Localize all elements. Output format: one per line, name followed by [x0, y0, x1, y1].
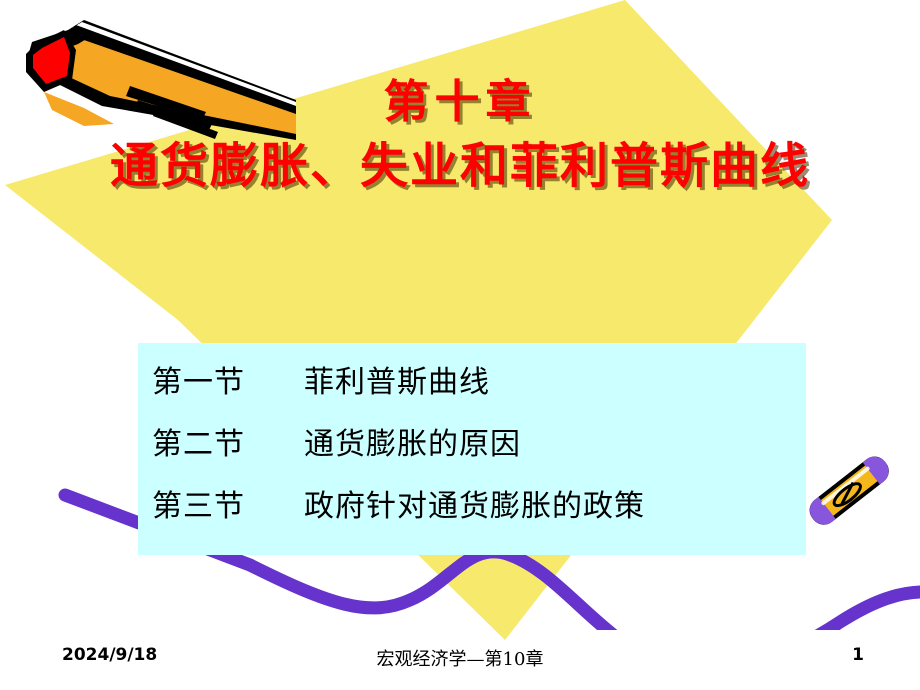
list-item[interactable]: 第二节 通货膨胀的原因 [152, 419, 806, 481]
toc-item-number: 第二节 [152, 419, 304, 463]
list-item[interactable]: 第一节 菲利普斯曲线 [152, 357, 806, 419]
pencil-icon [795, 440, 905, 540]
toc-list: 第一节 菲利普斯曲线 第二节 通货膨胀的原因 第三节 政府针对通货膨胀的政策 [152, 357, 806, 543]
chapter-subtitle: 通货膨胀、失业和菲利普斯曲线 [0, 141, 920, 191]
toc-item-label: 通货膨胀的原因 [304, 419, 521, 463]
toc-item-number: 第一节 [152, 357, 304, 401]
slide-title-block: 第十章 通货膨胀、失业和菲利普斯曲线 [0, 78, 920, 192]
list-item[interactable]: 第三节 政府针对通货膨胀的政策 [152, 481, 806, 543]
slide-canvas: 第十章 通货膨胀、失业和菲利普斯曲线 第一节 菲利普斯曲线 第二节 通货膨胀的原… [0, 0, 920, 690]
slide-footer: 2024/9/18 宏观经济学—第10章 1 [0, 628, 920, 690]
toc-panel: 第一节 菲利普斯曲线 第二节 通货膨胀的原因 第三节 政府针对通货膨胀的政策 [138, 343, 806, 555]
page-number: 1 [852, 645, 864, 665]
chapter-title: 第十章 [0, 78, 920, 125]
toc-item-number: 第三节 [152, 481, 304, 525]
footer-subject: 宏观经济学—第10章 [0, 645, 920, 671]
toc-item-label: 政府针对通货膨胀的政策 [304, 481, 645, 525]
toc-item-label: 菲利普斯曲线 [304, 357, 490, 401]
